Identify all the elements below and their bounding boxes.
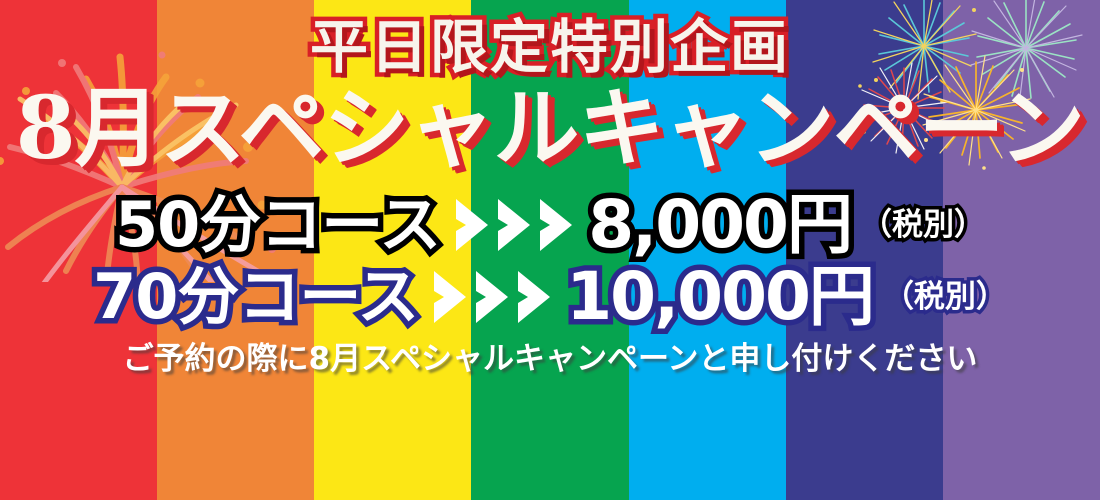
offer-row-70min: 70分コース 10,000円 （税別） (0, 264, 1100, 330)
offer-row-50min: 50分コース 8,000円 （税別） (0, 192, 1100, 258)
price-amount-50min: 8,000円 (588, 192, 851, 258)
banner-content: 平日限定特別企画 8月スペシャルキャンペーン 50分コース 8,000円 （税別… (0, 0, 1100, 500)
chevron-right-icon (452, 197, 576, 253)
headline-text: 平日限定特別企画 (310, 18, 790, 76)
chevron-right-icon (430, 269, 554, 325)
tax-note-50min: （税別） (861, 210, 985, 241)
tax-note-70min: （税別） (883, 282, 1007, 313)
reservation-note: ご予約の際に8月スペシャルキャンペーンと申し付けください (123, 344, 978, 375)
course-label-70min: 70分コース (93, 266, 418, 328)
page-title: 8月スペシャルキャンペーン (16, 84, 1085, 174)
campaign-banner: 平日限定特別企画 8月スペシャルキャンペーン 50分コース 8,000円 （税別… (0, 0, 1100, 500)
course-label-50min: 50分コース (115, 194, 440, 256)
price-amount-70min: 10,000円 (566, 264, 873, 330)
